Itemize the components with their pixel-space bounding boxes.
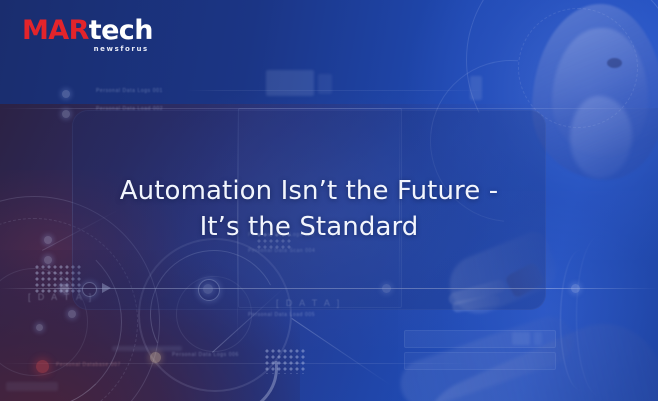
- hud-node-alert: [36, 360, 49, 373]
- hud-diagonal: [291, 318, 391, 386]
- hud-panel-bar: [404, 352, 556, 370]
- hud-blur-bar: [470, 76, 482, 100]
- hud-node: [36, 324, 43, 331]
- logo-tech-text: tech: [89, 15, 153, 46]
- hud-node: [44, 236, 52, 244]
- headline-container: Automation Isn’t the Future - It’s the S…: [72, 110, 546, 310]
- hud-blur-bar: [266, 70, 314, 96]
- hud-node: [571, 284, 580, 293]
- hud-node: [62, 90, 70, 98]
- hud-blur-bar: [534, 332, 542, 345]
- hud-blur-text: Personal Database 007: [56, 362, 121, 368]
- logo-wordmark: MARtech: [22, 17, 153, 44]
- hud-scanline-upper: [186, 90, 486, 91]
- hud-node: [62, 110, 70, 118]
- logo-tagline: newsforus: [22, 46, 153, 53]
- hud-node-warm: [150, 352, 161, 363]
- hud-blur-bar: [512, 332, 530, 345]
- hud-node: [44, 256, 52, 264]
- dot-matrix: [264, 348, 306, 374]
- hud-blur-bar: [112, 346, 182, 351]
- banner-image: [ D A T A ] [ D A T A ] Personal Data Lo…: [0, 0, 658, 401]
- logo-mar-text: MAR: [22, 15, 89, 46]
- hud-blur-bar: [6, 382, 58, 391]
- page-title: Automation Isn’t the Future - It’s the S…: [109, 174, 509, 246]
- hud-blur-text: Personal Data Load 005: [248, 312, 315, 318]
- hud-blur-text: Personal Data Logs 001: [96, 88, 163, 94]
- hud-blur-bar: [318, 74, 332, 94]
- martech-logo[interactable]: MARtech newsforus: [22, 17, 153, 53]
- hud-node: [68, 310, 76, 318]
- hud-blur-text: Personal Data Logs 006: [172, 352, 239, 358]
